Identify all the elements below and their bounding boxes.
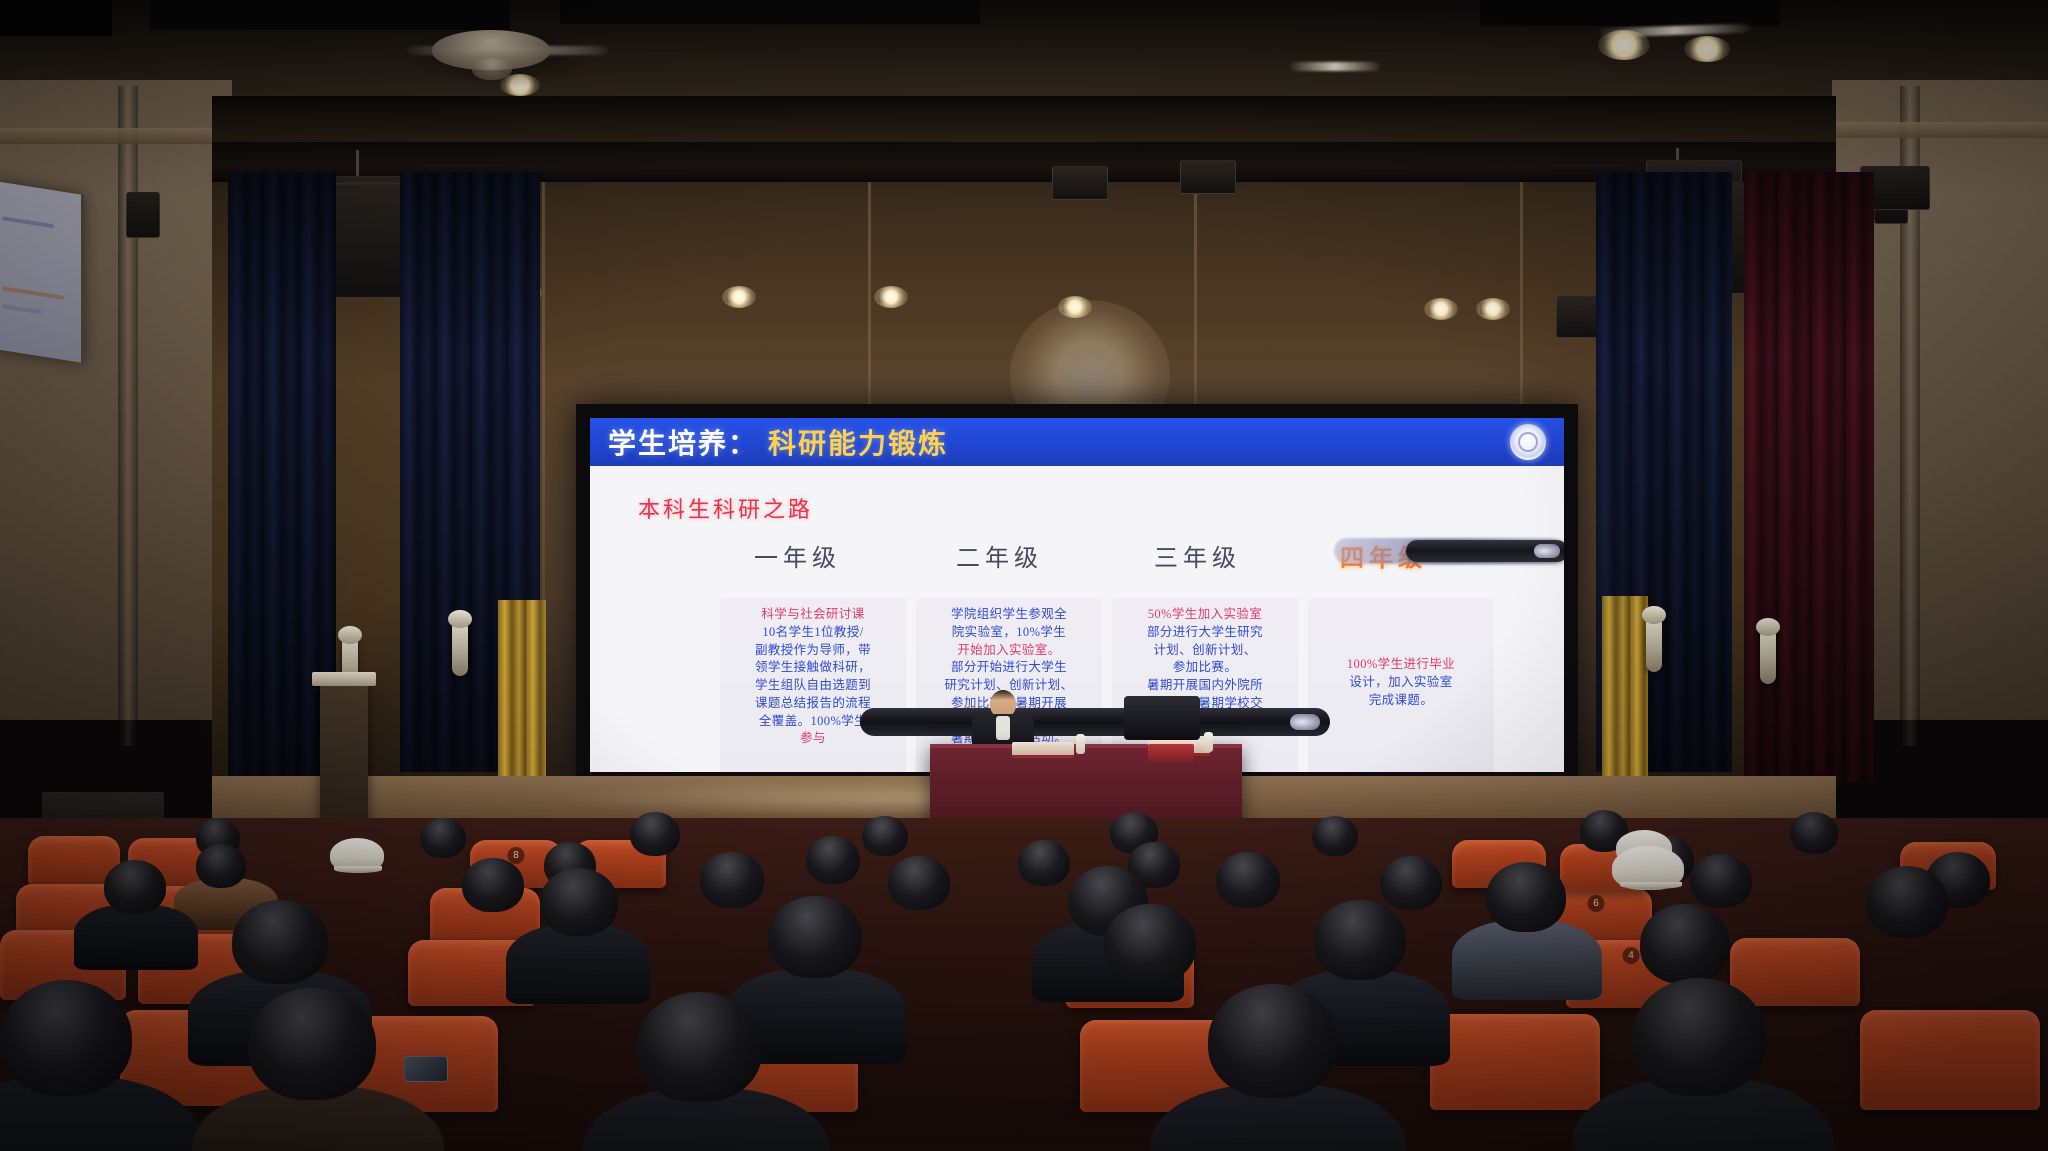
col1-line-1: 科学与社会研讨课 <box>726 606 900 624</box>
curtain-shading <box>1744 172 1874 782</box>
head <box>1640 904 1730 984</box>
head <box>630 812 680 856</box>
tieback-knot-right-inner <box>1642 606 1666 624</box>
roadmap-heading: 本科生科研之路 <box>638 492 813 524</box>
grade-header-year1: 一年级 <box>754 538 841 573</box>
col2-line-3: 开始加入实验室。 <box>922 642 1096 660</box>
head <box>196 844 246 888</box>
bottom-animation-bar <box>860 708 1330 736</box>
head <box>232 900 328 984</box>
head <box>1486 862 1566 932</box>
col3-line-4: 参加比赛。 <box>1118 659 1292 677</box>
cap-brim <box>1620 882 1682 889</box>
wall-pilaster-left <box>118 86 138 746</box>
grade-header-year3: 三年级 <box>1154 538 1241 573</box>
head <box>1690 854 1752 908</box>
column-text-year4: 100%学生进行毕业 设计，加入实验室 完成课题。 <box>1308 598 1494 709</box>
head <box>104 860 166 914</box>
head <box>636 992 762 1102</box>
wall-left <box>0 80 232 720</box>
projection-screen: 学生培养： 科研能力锻炼 本科生科研之路 一年级 二年级 三年级 四年级 <box>576 404 1578 788</box>
ceiling-lamp-1 <box>1598 30 1650 60</box>
cap-brim <box>334 866 382 873</box>
side-projector-screen <box>0 181 84 363</box>
stage-monitor-center <box>1180 160 1236 194</box>
col4-line-3: 完成课题。 <box>1314 692 1488 710</box>
col1-line-5: 学生组队自由选题到 <box>726 677 900 695</box>
curtain-right-outer <box>1744 172 1874 782</box>
seat[interactable] <box>1860 1010 2040 1110</box>
lecture-hall-photo: 学生培养： 科研能力锻炼 本科生科研之路 一年级 二年级 三年级 四年级 <box>0 0 2048 1151</box>
ceiling-dark-corner <box>0 0 112 36</box>
stage-monitor-left <box>1052 166 1108 200</box>
head <box>1312 816 1358 856</box>
stage-light-3 <box>874 286 908 308</box>
col2-line-4: 部分开始进行大学生 <box>922 659 1096 677</box>
lectern <box>320 680 368 830</box>
slide-title-bar: 学生培养： 科研能力锻炼 <box>590 418 1564 466</box>
head <box>462 858 524 912</box>
col4-line-1: 100%学生进行毕业 <box>1314 656 1488 674</box>
lectern-top-surface <box>312 672 376 686</box>
col3-line-1: 50%学生加入实验室 <box>1118 606 1292 624</box>
water-bottle-right <box>1204 732 1213 752</box>
water-bottle-left <box>1076 734 1085 754</box>
grade4-animation-bar <box>1406 540 1564 562</box>
head <box>248 988 376 1100</box>
seat[interactable] <box>1430 1014 1600 1110</box>
head <box>1866 866 1948 938</box>
ceiling-panel-a <box>150 0 510 30</box>
seat-number: 8 <box>508 847 525 864</box>
side-screen-accent-2 <box>2 286 64 300</box>
shoulders <box>1452 920 1602 1000</box>
head <box>806 836 860 884</box>
curtain-tieback-right-inner <box>1646 616 1662 672</box>
tieback-knot-left-inner <box>448 610 472 628</box>
col2-line-2: 院实验室，10%学生 <box>922 624 1096 642</box>
col1-line-2: 10名学生1位教授/ <box>726 624 900 642</box>
ceiling-panel-b <box>560 0 980 24</box>
col3-line-3: 计划、创新计划、 <box>1118 642 1292 660</box>
red-document-box <box>1148 744 1194 762</box>
col3-line-5: 暑期开展国内外院所 <box>1118 677 1292 695</box>
slide-title-highlight: 科研能力锻炼 <box>768 422 948 462</box>
gold-drape-right <box>1602 596 1648 802</box>
seat-number: 4 <box>1623 947 1640 964</box>
head <box>862 816 908 856</box>
slide-title: 学生培养： 科研能力锻炼 <box>608 422 948 462</box>
smartphone[interactable] <box>404 1056 448 1082</box>
slide-title-prefix: 学生培养： <box>608 422 758 462</box>
university-emblem-icon <box>1510 424 1546 460</box>
tieback-knot-left-outer <box>338 626 362 644</box>
head <box>1018 840 1070 886</box>
side-screen-accent-3 <box>2 304 42 314</box>
head <box>700 852 764 908</box>
table-microphone-unit <box>1124 696 1200 740</box>
head <box>1380 856 1442 910</box>
shoulders <box>506 924 650 1004</box>
stage-light-2 <box>722 286 756 308</box>
stage-light-5 <box>1424 298 1458 320</box>
head <box>1632 978 1766 1096</box>
speaker-rod-1 <box>356 150 359 176</box>
seat-number: 6 <box>1588 895 1605 912</box>
presenter-shirt <box>996 716 1010 740</box>
head <box>1104 904 1196 984</box>
backwall-upper-shadow <box>212 96 1836 142</box>
head <box>0 980 132 1096</box>
tieback-knot-right-outer <box>1756 618 1780 636</box>
curtain-tieback-right-outer <box>1760 628 1776 684</box>
wall-speaker-left <box>126 192 160 238</box>
ceiling-light-strip-3 <box>1290 62 1380 71</box>
head <box>1216 852 1280 908</box>
head <box>1208 984 1338 1098</box>
col3-line-2: 部分进行大学生研究 <box>1118 624 1292 642</box>
col4-line-2: 设计，加入实验室 <box>1314 674 1488 692</box>
ceiling-vent-stem <box>472 58 512 80</box>
nameplate-left <box>1012 742 1074 758</box>
head <box>888 856 950 910</box>
side-screen-accent-1 <box>2 216 54 228</box>
col2-line-1: 学院组织学生参观全 <box>922 606 1096 624</box>
curtain-tieback-left-inner <box>452 620 468 676</box>
head <box>540 868 618 936</box>
col1-line-3: 副教授作为导师，带 <box>726 642 900 660</box>
head <box>420 818 466 858</box>
seat[interactable] <box>1730 938 1860 1006</box>
stage-light-6 <box>1476 298 1510 320</box>
col1-line-4: 领学生接触做科研， <box>726 659 900 677</box>
head <box>768 896 862 978</box>
ceiling-lamp-2 <box>1684 36 1730 62</box>
presentation-slide: 学生培养： 科研能力锻炼 本科生科研之路 一年级 二年级 三年级 四年级 <box>590 418 1564 772</box>
grade-header-year2: 二年级 <box>956 538 1043 573</box>
head <box>1314 900 1406 980</box>
head <box>1790 812 1838 854</box>
ceiling-panel-c <box>1480 0 1780 26</box>
wall-band-left <box>0 128 232 144</box>
slide-body: 本科生科研之路 一年级 二年级 三年级 四年级 科学与社会研讨课 10名学生1位… <box>590 466 1564 772</box>
wall-band-right <box>1832 122 2048 138</box>
